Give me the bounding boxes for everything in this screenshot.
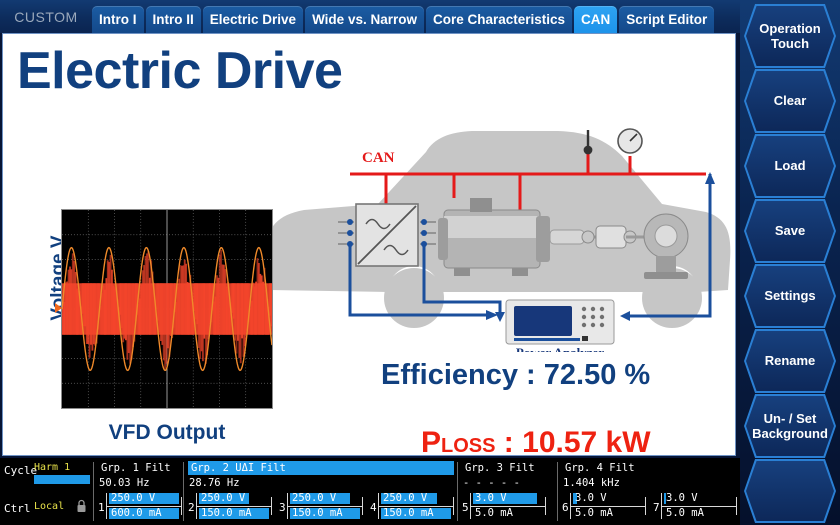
hex-face <box>746 461 834 521</box>
sidebar-button-label: Rename <box>765 353 816 368</box>
status-group-header: Grp. 3 Filt <box>462 461 538 475</box>
channel-bracket-right <box>736 497 737 515</box>
scope-panel: Voltage V VFD Output <box>43 209 273 449</box>
tab-can[interactable]: CAN <box>574 6 617 33</box>
tab-wide-vs-narrow[interactable]: Wide vs. Narrow <box>305 6 424 33</box>
hex-face: Load <box>746 136 834 196</box>
status-channel[interactable]: 2250.0 V150.0 mA <box>188 492 276 522</box>
channel-bracket-right <box>453 497 454 515</box>
cycle-bar <box>34 475 90 484</box>
status-channel[interactable]: 1250.0 V600.0 mA <box>98 492 186 522</box>
sidebar-button-label: Operation <box>759 21 820 36</box>
drivetrain-diagram: CAN <box>258 112 736 352</box>
status-channel[interactable]: 4250.0 V150.0 mA <box>370 492 458 522</box>
status-group-frequency: 50.03 Hz <box>99 477 150 489</box>
channel-bracket-right <box>181 497 182 515</box>
hex-face: Save <box>746 201 834 261</box>
tab-bar: CUSTOM Intro IIntro IIElectric DriveWide… <box>0 0 740 33</box>
channel-bracket-right <box>645 497 646 515</box>
current-value: 150.0 mA <box>383 507 434 519</box>
efficiency-value: 72.50 % <box>544 359 650 391</box>
sidebar-button-label: Clear <box>774 93 807 108</box>
sidebar: OperationTouchClearLoadSaveSettingsRenam… <box>740 0 840 525</box>
channel-number: 7 <box>653 501 660 514</box>
current-value: 150.0 mA <box>292 507 343 519</box>
sidebar-load[interactable]: Load <box>740 134 840 198</box>
current-value: 5.0 mA <box>475 507 513 519</box>
power-analyzer <box>506 300 614 344</box>
status-channel[interactable]: 63.0 V5.0 mA <box>562 492 650 522</box>
voltage-value: 3.0 V <box>475 492 507 504</box>
tab-script-editor[interactable]: Script Editor <box>619 6 714 33</box>
voltage-value: 3.0 V <box>666 492 698 504</box>
trigger-marker-icon <box>55 303 62 313</box>
status-group-frequency: 1.404 kHz <box>563 477 620 489</box>
power-loss-readout: PLOSS : 10.57 kW <box>421 426 651 456</box>
channel-number: 6 <box>562 501 569 514</box>
sidebar-button-sublabel: Touch <box>771 36 809 51</box>
channel-bracket-right <box>545 497 546 515</box>
status-separator <box>183 462 184 521</box>
current-value: 600.0 mA <box>111 507 162 519</box>
status-group-frequency: - - - - - <box>463 477 520 489</box>
status-group-header: Grp. 2 UΔI Filt <box>188 461 454 475</box>
sidebar-rename[interactable]: Rename <box>740 329 840 393</box>
voltage-value: 3.0 V <box>575 492 607 504</box>
voltage-value: 250.0 V <box>383 492 427 504</box>
lock-icon <box>76 499 87 516</box>
sidebar-operation[interactable]: OperationTouch <box>740 4 840 68</box>
can-bus-label: CAN <box>362 150 395 166</box>
status-channel[interactable]: 73.0 V5.0 mA <box>653 492 741 522</box>
sidebar-unset-background[interactable]: Un- / SetBackground <box>740 394 840 458</box>
sidebar-button-label: Save <box>775 223 805 238</box>
status-separator <box>557 462 558 521</box>
voltage-value: 250.0 V <box>201 492 245 504</box>
sidebar-settings[interactable]: Settings <box>740 264 840 328</box>
application-window: CUSTOM Intro IIntro IIElectric DriveWide… <box>0 0 840 525</box>
voltage-value: 250.0 V <box>111 492 155 504</box>
ploss-subscript: LOSS <box>441 435 495 456</box>
ploss-value: 10.57 kW <box>522 426 650 456</box>
ploss-label: P <box>421 426 441 456</box>
efficiency-readout: Efficiency : 72.50 % <box>381 359 650 392</box>
sidebar-clear[interactable]: Clear <box>740 69 840 133</box>
current-value: 5.0 mA <box>575 507 613 519</box>
status-group-header: Grp. 1 Filt <box>98 461 174 475</box>
current-value: 150.0 mA <box>201 507 252 519</box>
gauge-icon <box>618 129 642 153</box>
status-mode-block: CycleHarm 1CtrlLocal <box>2 458 94 525</box>
cycle-value: Harm 1 <box>34 462 70 473</box>
sidebar-button-label: Settings <box>764 288 815 303</box>
channel-number: 1 <box>98 501 105 514</box>
channel-bracket-right <box>271 497 272 515</box>
sidebar-button-label: Load <box>774 158 805 173</box>
status-group-frequency: 28.76 Hz <box>189 477 240 489</box>
hex-face: Rename <box>746 331 834 391</box>
ctrl-value: Local <box>34 501 64 512</box>
power-analyzer-label: Power Analyzer <box>516 345 604 352</box>
tab-intro-1[interactable]: Intro I <box>92 6 144 33</box>
status-channel[interactable]: 3250.0 V150.0 mA <box>279 492 367 522</box>
channel-bracket-right <box>362 497 363 515</box>
sidebar-save[interactable]: Save <box>740 199 840 263</box>
current-value: 5.0 mA <box>666 507 704 519</box>
ctrl-label: Ctrl <box>4 502 31 515</box>
cycle-label: Cycle <box>4 464 37 477</box>
hex-face: Settings <box>746 266 834 326</box>
content-panel: Electric Drive CAN <box>2 33 736 456</box>
status-group[interactable]: Grp. 3 Filt- - - - -53.0 V5.0 mA <box>460 458 558 525</box>
status-separator <box>93 462 94 521</box>
status-group[interactable]: Grp. 2 UΔI Filt28.76 Hz2250.0 V150.0 mA3… <box>186 458 458 525</box>
scope-display[interactable] <box>61 209 273 409</box>
status-channel[interactable]: 53.0 V5.0 mA <box>462 492 550 522</box>
hex-face: OperationTouch <box>746 6 834 66</box>
efficiency-label: Efficiency : <box>381 359 544 391</box>
tab-electric-drive[interactable]: Electric Drive <box>203 6 303 33</box>
sidebar-empty[interactable] <box>740 459 840 523</box>
hex-face: Clear <box>746 71 834 131</box>
page-title: Electric Drive <box>17 45 342 97</box>
tab-core-characteristics[interactable]: Core Characteristics <box>426 6 572 33</box>
status-group[interactable]: Grp. 4 Filt1.404 kHz63.0 V5.0 mA73.0 V5.… <box>560 458 738 525</box>
scope-caption: VFD Output <box>61 421 273 445</box>
ploss-separator: : <box>495 426 522 456</box>
status-separator <box>457 462 458 521</box>
tab-intro-2[interactable]: Intro II <box>146 6 201 33</box>
sidebar-button-label: Un- / SetBackground <box>752 411 828 442</box>
status-group-header: Grp. 4 Filt <box>562 461 638 475</box>
hex-face: Un- / SetBackground <box>746 396 834 456</box>
channel-number: 2 <box>188 501 195 514</box>
waveform-canvas <box>62 210 272 408</box>
inverter <box>356 204 418 266</box>
status-group[interactable]: Grp. 1 Filt50.03 Hz1250.0 V600.0 mA <box>96 458 184 525</box>
channel-number: 4 <box>370 501 377 514</box>
channel-number: 3 <box>279 501 286 514</box>
status-bar: CycleHarm 1CtrlLocalGrp. 1 Filt50.03 Hz1… <box>0 458 740 525</box>
custom-label: CUSTOM <box>0 0 92 33</box>
voltage-value: 250.0 V <box>292 492 336 504</box>
channel-number: 5 <box>462 501 469 514</box>
